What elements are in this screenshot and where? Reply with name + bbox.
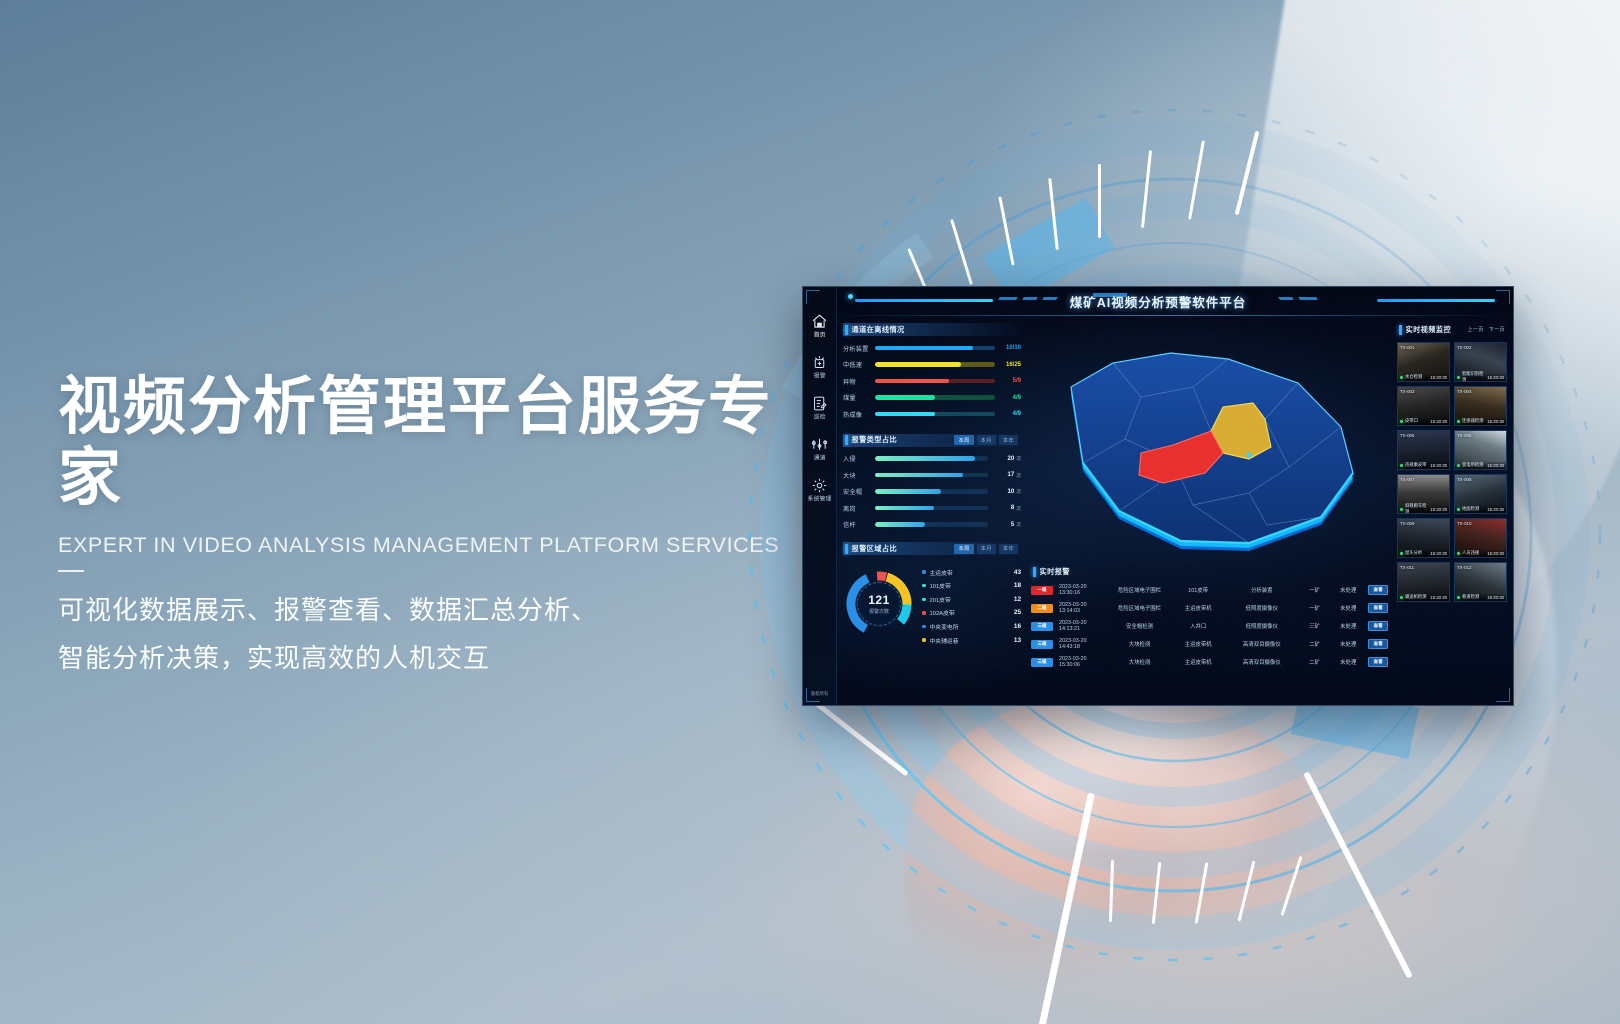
sidebar-item-alarm[interactable]: 报警 bbox=[803, 354, 836, 379]
status-badge: 三级 bbox=[1031, 622, 1053, 631]
channel-status-bars: 分析装置 10/10 中低速 16/25 异物 5/9 煤量 4 bbox=[843, 344, 1021, 419]
bar-row: 离岗 8 次 bbox=[843, 504, 1021, 513]
legend-label: 中央辅运巷 bbox=[930, 636, 1014, 645]
video-id: TX-009 bbox=[1400, 521, 1414, 526]
alarm-type-header: 报警类型占比 本周 本月 本年 bbox=[843, 434, 1021, 447]
cell-status: 未处理 bbox=[1331, 658, 1365, 666]
donut-center: 121 报警次数 bbox=[857, 582, 901, 626]
video-panel-title: 实时视频监控 bbox=[1406, 325, 1452, 335]
status-led bbox=[1457, 508, 1460, 511]
video-name: 人员违规 bbox=[1462, 550, 1479, 556]
video-time: 15:20:30 bbox=[1430, 375, 1447, 380]
bar-unit: 次 bbox=[1016, 488, 1021, 495]
panel-accent-bar bbox=[845, 435, 848, 445]
legend-value: 16 bbox=[1014, 623, 1021, 630]
bar-track bbox=[875, 412, 995, 417]
video-time: 15:20:30 bbox=[1487, 551, 1504, 556]
bar-value: 10 bbox=[988, 489, 1014, 495]
video-id: TX-011 bbox=[1400, 565, 1414, 570]
dashboard-sidebar: 首页 报警 巡检 通道 系统管理 版权所有 bbox=[803, 287, 837, 705]
legend-dot bbox=[922, 570, 926, 574]
cell-device: 分析装置 bbox=[1226, 586, 1298, 594]
video-cell[interactable]: TX-007 斜巷跑车检测 15:20:30 bbox=[1397, 474, 1450, 514]
cell-device: 高清双目摄像仪 bbox=[1226, 640, 1298, 648]
status-led bbox=[1457, 420, 1460, 423]
alarm-area-title: 报警区域占比 bbox=[852, 544, 898, 554]
bar-label: 入侵 bbox=[843, 454, 875, 463]
alarm-area-tabs: 本周 本月 本年 bbox=[954, 544, 1021, 554]
status-led bbox=[1400, 464, 1403, 467]
video-cell[interactable]: TX-012 巷道检测 15:20:30 bbox=[1454, 562, 1507, 602]
cell-mine: 三矿 bbox=[1298, 622, 1332, 630]
bar-unit: 次 bbox=[1016, 455, 1021, 462]
video-id: TX-001 bbox=[1400, 345, 1414, 350]
cell-time: 2023-03-20 14:13:21 bbox=[1053, 620, 1109, 632]
status-led bbox=[1400, 596, 1403, 599]
tab-year[interactable]: 本年 bbox=[999, 435, 1018, 445]
bar-value: 20 bbox=[988, 456, 1014, 462]
video-name: 输送机检测 bbox=[1405, 594, 1426, 600]
status-badge: 三级 bbox=[1031, 640, 1053, 649]
video-id: TX-007 bbox=[1400, 477, 1414, 482]
cell-device: 高清双目摄像仪 bbox=[1226, 658, 1298, 666]
cell-time: 2023-03-20 15:30:06 bbox=[1053, 656, 1109, 668]
bar-row: 异物 5/9 bbox=[843, 377, 1021, 386]
bar-value: 8 bbox=[988, 505, 1014, 511]
status-led bbox=[1400, 552, 1403, 555]
video-time: 15:20:30 bbox=[1430, 507, 1447, 512]
bar-track bbox=[875, 362, 995, 367]
bar-value: 5 bbox=[988, 522, 1014, 528]
video-id: TX-008 bbox=[1457, 477, 1471, 482]
video-time: 15:20:30 bbox=[1430, 595, 1447, 600]
video-cell[interactable]: TX-002 智能识别检测 15:20:30 bbox=[1454, 342, 1507, 382]
tab-week[interactable]: 本周 bbox=[954, 435, 973, 445]
bar-row: 分析装置 10/10 bbox=[843, 344, 1021, 353]
corner-deco-tl bbox=[806, 290, 820, 304]
cell-channel: 主运皮带机 bbox=[1170, 658, 1226, 666]
cell-time: 2023-03-20 13:14:03 bbox=[1053, 602, 1109, 614]
tab-month[interactable]: 本月 bbox=[977, 544, 996, 554]
bar-value: 4/9 bbox=[995, 411, 1021, 417]
video-cell[interactable]: TX-003 皮带口 15:20:30 bbox=[1397, 386, 1450, 426]
channel-status-panel: 通道在离线情况 分析装置 10/10 中低速 16/25 异物 5/9 bbox=[843, 323, 1021, 419]
cell-type: 大块检测 bbox=[1109, 640, 1171, 648]
legend-value: 25 bbox=[1014, 609, 1021, 616]
dashboard-monitor: 煤矿AI视频分析预警软件平台 首页 报警 巡检 bbox=[802, 286, 1514, 706]
video-cell[interactable]: TX-009 鼠头分析 15:20:30 bbox=[1397, 518, 1450, 558]
corner-deco-bl bbox=[806, 688, 820, 702]
list-item: 中央变电所 16 bbox=[922, 622, 1021, 631]
video-name: 连接器检测 bbox=[1462, 418, 1483, 424]
bar-row: 中低速 16/25 bbox=[843, 360, 1021, 369]
list-item: 102A皮带 25 bbox=[922, 608, 1021, 617]
bar-label: 离岗 bbox=[843, 504, 875, 513]
left-column: 通道在离线情况 分析装置 10/10 中低速 16/25 异物 5/9 bbox=[843, 323, 1021, 645]
alarm-type-panel: 报警类型占比 本周 本月 本年 入侵 20 次 大块 17 bbox=[843, 434, 1021, 530]
bar-track bbox=[875, 489, 988, 494]
video-cell[interactable]: TX-008 地面检测 15:20:30 bbox=[1454, 474, 1507, 514]
status-badge: 一级 bbox=[1031, 586, 1053, 595]
bar-label: 中低速 bbox=[843, 360, 875, 369]
legend-dot bbox=[922, 598, 926, 602]
video-name: 水仓检测 bbox=[1405, 374, 1422, 380]
cell-type: 大块检测 bbox=[1109, 658, 1171, 666]
home-icon bbox=[811, 313, 828, 330]
video-name: 违规乘皮带 bbox=[1405, 462, 1426, 468]
table-row[interactable]: 一级 2023-03-20 13:30:16 危险区域电子围栏 101皮带 分析… bbox=[1031, 584, 1391, 596]
dashboard-header: 煤矿AI视频分析预警软件平台 bbox=[803, 287, 1513, 319]
bar-value: 16/25 bbox=[995, 362, 1021, 368]
video-name: 斜巷跑车检测 bbox=[1405, 503, 1430, 514]
hero-copy: 视频分析管理平台服务专家 EXPERT IN VIDEO ANALYSIS MA… bbox=[58, 372, 818, 682]
legend-dot bbox=[922, 611, 926, 615]
bar-row: 安全帽 10 次 bbox=[843, 487, 1021, 496]
legend-label: 201皮带 bbox=[930, 595, 1014, 604]
bar-track bbox=[875, 395, 995, 400]
video-cell[interactable]: TX-006 变电所检测 15:20:30 bbox=[1454, 430, 1507, 470]
cell-type: 危险区域电子围栏 bbox=[1109, 604, 1171, 612]
video-cell[interactable]: TX-010 人员违规 15:20:30 bbox=[1454, 518, 1507, 558]
video-time: 15:20:30 bbox=[1487, 375, 1504, 380]
alarm-table-panel: 实时报警 一级 2023-03-20 13:30:16 危险区域电子围栏 101… bbox=[1031, 565, 1391, 668]
streak-7 bbox=[1098, 164, 1101, 238]
cell-mine: 二矿 bbox=[1298, 658, 1332, 666]
hero-desc-line-1: 可视化数据展示、报警查看、数据汇总分析、 bbox=[58, 586, 818, 634]
legend-label: 中央变电所 bbox=[930, 622, 1014, 631]
divider bbox=[58, 570, 84, 572]
legend-dot bbox=[922, 625, 926, 629]
status-led bbox=[1400, 420, 1403, 423]
region-map[interactable] bbox=[1053, 335, 1373, 565]
header-line-right bbox=[1377, 299, 1495, 302]
cell-status: 未处理 bbox=[1331, 640, 1365, 648]
cell-status: 未处理 bbox=[1331, 586, 1365, 594]
channel-status-title: 通道在离线情况 bbox=[852, 325, 905, 335]
bar-track bbox=[875, 456, 988, 461]
video-id: TX-006 bbox=[1457, 433, 1471, 438]
cell-status: 未处理 bbox=[1331, 604, 1365, 612]
video-id: TX-012 bbox=[1457, 565, 1471, 570]
list-item: 101皮带 18 bbox=[922, 581, 1021, 590]
table-row[interactable]: 三级 2023-03-20 14:43:18 大块检测 主运皮带机 高清双目摄像… bbox=[1031, 638, 1391, 650]
video-time: 15:20:30 bbox=[1487, 419, 1504, 424]
list-item: 201皮带 12 bbox=[922, 595, 1021, 604]
legend-value: 12 bbox=[1014, 596, 1021, 603]
bar-label: 信杆 bbox=[843, 520, 875, 529]
video-time: 15:20:30 bbox=[1487, 595, 1504, 600]
cell-mine: 二矿 bbox=[1298, 640, 1332, 648]
sidebar-item-alarm-label: 报警 bbox=[814, 372, 826, 380]
legend-value: 18 bbox=[1014, 582, 1021, 589]
video-id: TX-010 bbox=[1457, 521, 1471, 526]
cell-status: 未处理 bbox=[1331, 622, 1365, 630]
inspection-icon bbox=[811, 395, 828, 412]
alarm-table-title: 实时报警 bbox=[1040, 567, 1070, 577]
bar-value: 17 bbox=[988, 472, 1014, 478]
status-badge: 二级 bbox=[1031, 604, 1053, 613]
bar-track bbox=[875, 506, 988, 511]
video-name: 智能识别检测 bbox=[1462, 371, 1487, 382]
alarm-area-legend: 主运皮带 43 101皮带 18 201皮带 12 bbox=[922, 563, 1021, 645]
view-button[interactable]: 查看 bbox=[1368, 657, 1387, 668]
video-cell[interactable]: TX-001 水仓检测 15:20:30 bbox=[1397, 342, 1450, 382]
video-cell[interactable]: TX-005 违规乘皮带 15:20:30 bbox=[1397, 430, 1450, 470]
panel-accent-bar bbox=[1033, 567, 1036, 577]
video-name: 巷道检测 bbox=[1462, 594, 1479, 600]
tab-month[interactable]: 本月 bbox=[977, 435, 996, 445]
legend-dot bbox=[922, 584, 926, 588]
cell-device: 低照度摄像仪 bbox=[1226, 622, 1298, 630]
video-time: 15:20:30 bbox=[1487, 507, 1504, 512]
corner-deco-br bbox=[1496, 688, 1510, 702]
bar-label: 分析装置 bbox=[843, 344, 875, 353]
video-name: 地面检测 bbox=[1462, 506, 1479, 512]
bar-unit: 次 bbox=[1016, 505, 1021, 512]
bar-unit: 次 bbox=[1016, 472, 1021, 479]
header-frame-line bbox=[829, 315, 1505, 316]
video-monitor-panel: 实时视频监控 上一页 下一页 TX-001 水仓检测 15:20:30 TX-0… bbox=[1397, 323, 1507, 602]
header-seg-f bbox=[1278, 297, 1294, 300]
bar-label: 热成像 bbox=[843, 410, 875, 419]
bar-unit: 次 bbox=[1016, 521, 1021, 528]
bar-value: 5/9 bbox=[995, 378, 1021, 384]
cell-time: 2023-03-20 14:43:18 bbox=[1053, 638, 1109, 650]
bar-track bbox=[875, 522, 988, 527]
video-cell[interactable]: TX-004 连接器检测 15:20:30 bbox=[1454, 386, 1507, 426]
video-time: 15:20:30 bbox=[1430, 551, 1447, 556]
bar-track bbox=[875, 473, 988, 478]
channel-status-header: 通道在离线情况 bbox=[843, 323, 1021, 336]
legend-value: 13 bbox=[1014, 637, 1021, 644]
view-button[interactable]: 查看 bbox=[1368, 639, 1387, 650]
bar-label: 异物 bbox=[843, 377, 875, 386]
bar-value: 10/10 bbox=[995, 345, 1021, 351]
donut-center-value: 121 bbox=[868, 593, 890, 607]
sidebar-item-inspection[interactable]: 巡检 bbox=[803, 395, 836, 420]
panel-accent-bar bbox=[1399, 325, 1402, 335]
header-seg-e bbox=[1298, 297, 1318, 300]
tab-week[interactable]: 本周 bbox=[954, 544, 973, 554]
bar-value: 4/9 bbox=[995, 395, 1021, 401]
video-id: TX-004 bbox=[1457, 389, 1471, 394]
bar-row: 大块 17 次 bbox=[843, 471, 1021, 480]
cell-channel: 主运皮带机 bbox=[1170, 604, 1226, 612]
hand-highlight bbox=[940, 700, 1300, 850]
cell-type: 危险区域电子围栏 bbox=[1109, 586, 1171, 594]
list-item: 主运皮带 43 bbox=[922, 568, 1021, 577]
panel-accent-bar bbox=[845, 544, 848, 554]
sidebar-item-system-label: 系统管理 bbox=[808, 495, 832, 503]
video-id: TX-005 bbox=[1400, 433, 1414, 438]
sidebar-item-inspection-label: 巡检 bbox=[814, 413, 826, 421]
map-marker bbox=[1246, 452, 1251, 457]
bar-row: 热成像 4/9 bbox=[843, 410, 1021, 419]
video-cell[interactable]: TX-011 输送机检测 15:20:30 bbox=[1397, 562, 1450, 602]
video-time: 15:20:30 bbox=[1487, 463, 1504, 468]
legend-label: 主运皮带 bbox=[930, 568, 1014, 577]
status-led bbox=[1400, 508, 1403, 511]
video-name: 皮带口 bbox=[1405, 418, 1418, 424]
page-title: 视频分析管理平台服务专家 bbox=[58, 372, 818, 513]
video-grid: TX-001 水仓检测 15:20:30 TX-002 智能识别检测 15:20… bbox=[1397, 342, 1507, 602]
bar-label: 安全帽 bbox=[843, 487, 875, 496]
alarm-table-header: 实时报警 bbox=[1031, 565, 1391, 578]
bar-label: 大块 bbox=[843, 471, 875, 480]
video-name: 变电所检测 bbox=[1462, 462, 1483, 468]
sidebar-item-home[interactable]: 首页 bbox=[803, 313, 836, 338]
tab-year[interactable]: 本年 bbox=[999, 544, 1018, 554]
bar-row: 煤量 4/9 bbox=[843, 393, 1021, 402]
view-button[interactable]: 查看 bbox=[1368, 603, 1387, 614]
view-button[interactable]: 查看 bbox=[1368, 621, 1387, 632]
status-led bbox=[1457, 464, 1460, 467]
status-led bbox=[1457, 552, 1460, 555]
bar-label: 煤量 bbox=[843, 393, 875, 402]
hero-subtitle-en: EXPERT IN VIDEO ANALYSIS MANAGEMENT PLAT… bbox=[58, 533, 818, 558]
bar-track bbox=[875, 379, 995, 384]
cell-channel: 101皮带 bbox=[1170, 586, 1226, 594]
video-id: TX-003 bbox=[1400, 389, 1414, 394]
video-time: 15:20:30 bbox=[1430, 463, 1447, 468]
video-panel-header: 实时视频监控 上一页 下一页 bbox=[1397, 323, 1507, 336]
status-led bbox=[1400, 376, 1403, 379]
table-row[interactable]: 二级 2023-03-20 13:14:03 危险区域电子围栏 主运皮带机 低照… bbox=[1031, 602, 1391, 614]
cell-time: 2023-03-20 13:30:16 bbox=[1053, 584, 1109, 596]
status-badge: 三级 bbox=[1031, 658, 1053, 667]
settings-icon bbox=[811, 477, 828, 494]
alarm-area-donut-chart: 121 报警次数 bbox=[843, 568, 915, 640]
status-led bbox=[1457, 376, 1460, 379]
legend-dot bbox=[922, 638, 926, 642]
alarm-type-tabs: 本周 本月 本年 bbox=[954, 435, 1021, 445]
alarm-area-panel: 报警区域占比 本周 本月 本年 bbox=[843, 542, 1021, 645]
bar-row: 信杆 5 次 bbox=[843, 520, 1021, 529]
cell-channel: 入井口 bbox=[1170, 622, 1226, 630]
bar-row: 入侵 20 次 bbox=[843, 454, 1021, 463]
table-row[interactable]: 三级 2023-03-20 15:30:06 大块检测 主运皮带机 高清双目摄像… bbox=[1031, 656, 1391, 668]
sidebar-item-channel[interactable]: 通道 bbox=[803, 436, 836, 461]
sidebar-item-channel-label: 通道 bbox=[814, 454, 826, 462]
cell-type: 安全帽检测 bbox=[1109, 622, 1171, 630]
corner-deco-tr bbox=[1496, 290, 1510, 304]
video-name: 鼠头分析 bbox=[1405, 550, 1422, 556]
alarm-icon bbox=[811, 354, 828, 371]
legend-label: 102A皮带 bbox=[930, 608, 1014, 617]
legend-label: 101皮带 bbox=[930, 581, 1014, 590]
video-id: TX-002 bbox=[1457, 345, 1471, 350]
sidebar-item-system[interactable]: 系统管理 bbox=[803, 477, 836, 502]
channel-icon bbox=[811, 436, 828, 453]
panel-accent-bar bbox=[845, 325, 848, 335]
status-led bbox=[1457, 596, 1460, 599]
next-page-button[interactable]: 下一页 bbox=[1489, 326, 1505, 333]
legend-value: 43 bbox=[1014, 569, 1021, 576]
cell-mine: 一矿 bbox=[1298, 604, 1332, 612]
prev-page-button[interactable]: 上一页 bbox=[1468, 326, 1484, 333]
bar-track bbox=[875, 346, 995, 351]
alarm-type-bars: 入侵 20 次 大块 17 次 安全帽 10 次 bbox=[843, 454, 1021, 529]
cell-device: 低照度摄像仪 bbox=[1226, 604, 1298, 612]
view-button[interactable]: 查看 bbox=[1368, 585, 1387, 596]
donut-center-label: 报警次数 bbox=[869, 608, 889, 615]
alarm-type-title: 报警类型占比 bbox=[852, 435, 898, 445]
video-time: 15:20:30 bbox=[1430, 419, 1447, 424]
alarm-area-header: 报警区域占比 本周 本月 本年 bbox=[843, 542, 1021, 555]
cell-mine: 一矿 bbox=[1298, 586, 1332, 594]
hero-desc-line-2: 智能分析决策，实现高效的人机交互 bbox=[58, 634, 818, 682]
sidebar-item-home-label: 首页 bbox=[814, 331, 826, 339]
list-item: 中央辅运巷 13 bbox=[922, 636, 1021, 645]
cell-channel: 主运皮带机 bbox=[1170, 640, 1226, 648]
table-row[interactable]: 三级 2023-03-20 14:13:21 安全帽检测 入井口 低照度摄像仪 … bbox=[1031, 620, 1391, 632]
